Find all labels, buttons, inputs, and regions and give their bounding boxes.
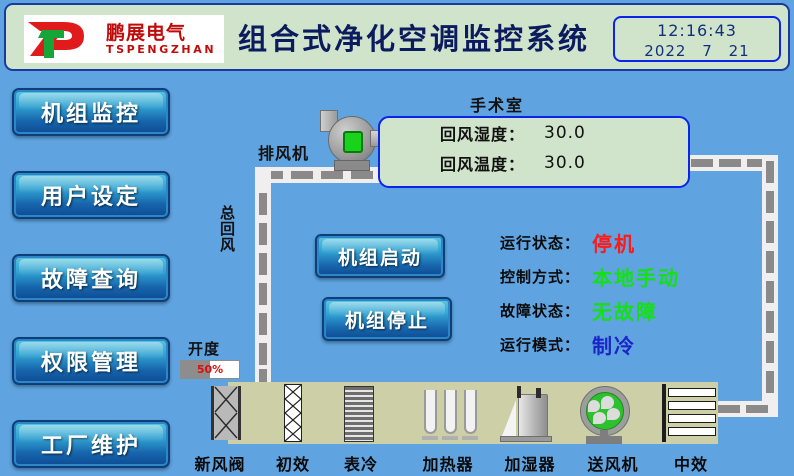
fresh-air-damper-icon	[211, 386, 241, 440]
hmi-screen: 鹏展电气 TSPENGZHAN 组合式净化空调监控系统 12:16:43 202…	[0, 0, 794, 476]
clock-year: 2022	[639, 42, 691, 60]
company-logo: 鹏展电气 TSPENGZHAN	[24, 15, 224, 63]
status-list: 运行状态： 停机 控制方式： 本地手动 故障状态： 无故障 运行模式： 制冷	[500, 225, 710, 361]
heater-icon	[424, 390, 478, 440]
equipment-label-supply-fan: 送风机	[570, 451, 656, 475]
cooling-coil-icon	[344, 386, 374, 442]
equipment-label-humidifier: 加湿器	[487, 451, 573, 475]
duct-left-vertical	[255, 167, 271, 392]
fault-state-label: 故障状态：	[500, 300, 592, 321]
run-state-label: 运行状态：	[500, 232, 592, 253]
sidebar-item-permissions[interactable]: 权限管理	[12, 337, 170, 385]
unit-stop-button[interactable]: 机组停止	[322, 297, 452, 341]
humidifier-icon	[500, 386, 552, 442]
damper-opening-value: 50%	[181, 361, 239, 378]
equipment-label-heater: 加热器	[405, 451, 491, 475]
damper-opening-label: 开度	[188, 338, 220, 359]
clock-month: 7	[697, 42, 718, 60]
duct-right-vertical	[762, 155, 778, 417]
clock-time: 12:16:43	[615, 18, 779, 41]
sidebar-item-fault-query[interactable]: 故障查询	[12, 254, 170, 302]
run-state-value: 停机	[592, 228, 636, 257]
clock-day: 21	[724, 42, 755, 60]
primary-filter-icon	[284, 384, 302, 442]
status-row-run-mode: 运行模式： 制冷	[500, 327, 710, 361]
sidebar-item-unit-monitor[interactable]: 机组监控	[12, 88, 170, 136]
equipment-label-medium-filter: 中效	[660, 451, 722, 475]
clock-display: 12:16:43 2022 7 21	[613, 16, 781, 62]
sidebar-item-user-settings[interactable]: 用户设定	[12, 171, 170, 219]
control-mode-label: 控制方式：	[500, 266, 592, 287]
run-mode-value: 制冷	[592, 330, 636, 359]
damper-opening-slider[interactable]: 50%	[180, 360, 240, 379]
clock-date: 2022 7 21	[615, 41, 779, 61]
status-row-control-mode: 控制方式： 本地手动	[500, 259, 710, 293]
logo-mark-icon	[24, 16, 104, 62]
room-row-humidity: 回风湿度： 30.0	[380, 118, 688, 148]
return-humidity-label: 回风湿度：	[440, 121, 544, 145]
status-row-run-state: 运行状态： 停机	[500, 225, 710, 259]
control-mode-value: 本地手动	[592, 262, 680, 291]
header-bar: 鹏展电气 TSPENGZHAN 组合式净化空调监控系统 12:16:43 202…	[4, 3, 790, 71]
supply-fan-icon	[576, 386, 634, 444]
exhaust-fan-label: 排风机	[258, 140, 309, 164]
return-air-label-text: 总回风	[218, 205, 236, 253]
return-temperature-label: 回风温度：	[440, 151, 544, 175]
return-humidity-value: 30.0	[544, 123, 586, 143]
room-readout-panel: 回风湿度： 30.0 回风温度： 30.0	[378, 116, 690, 188]
return-temperature-value: 30.0	[544, 153, 586, 173]
status-row-fault-state: 故障状态： 无故障	[500, 293, 710, 327]
return-air-label: 总回风	[218, 205, 236, 253]
duct-bottom-right	[712, 401, 778, 417]
logo-text-en: TSPENGZHAN	[106, 43, 224, 56]
sidebar-item-factory-maintain[interactable]: 工厂维护	[12, 420, 170, 468]
fault-state-value: 无故障	[592, 296, 658, 325]
logo-text-cn: 鹏展电气	[106, 23, 224, 43]
equipment-label-cooling-coil: 表冷	[330, 451, 392, 475]
medium-filter-icon	[662, 384, 718, 442]
exhaust-fan-icon	[312, 110, 384, 170]
room-row-temperature: 回风温度： 30.0	[380, 148, 688, 178]
run-mode-label: 运行模式：	[500, 334, 592, 355]
unit-start-button[interactable]: 机组启动	[315, 234, 445, 278]
equipment-label-fresh-air-damper: 新风阀	[182, 451, 258, 475]
equipment-label-primary-filter: 初效	[262, 451, 324, 475]
page-title: 组合式净化空调监控系统	[234, 19, 594, 59]
room-title: 手术室	[470, 92, 524, 116]
